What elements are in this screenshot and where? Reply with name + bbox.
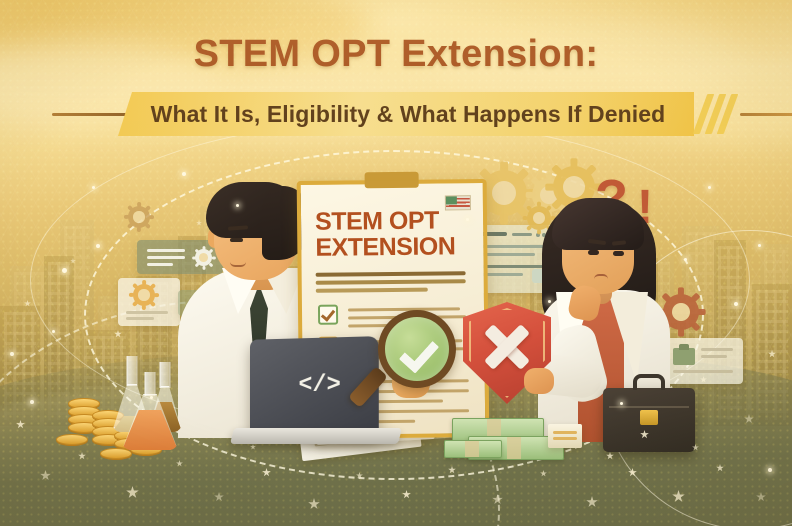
gear-tooth xyxy=(526,192,533,198)
gear-icon xyxy=(481,170,527,216)
gear-tooth xyxy=(208,262,213,267)
checkbox-checked-green xyxy=(318,305,338,325)
gear-icon xyxy=(133,284,155,306)
gear-tooth xyxy=(698,309,706,315)
gear-tooth xyxy=(545,183,554,190)
gear-tooth xyxy=(570,158,577,167)
gear-tooth xyxy=(500,162,508,172)
man-eye xyxy=(230,238,243,242)
sparkle-dot xyxy=(30,400,34,404)
document-heading: STEM OPT EXTENSION xyxy=(315,207,476,261)
gear-tooth xyxy=(137,227,141,232)
gear-icon xyxy=(128,206,150,228)
magnifier-check-icon xyxy=(378,310,456,388)
gear-tooth xyxy=(154,293,159,297)
document-rule xyxy=(316,288,428,293)
sparkle-dot xyxy=(182,172,186,176)
gear-tooth xyxy=(149,215,154,219)
flask-icon xyxy=(122,372,178,450)
briefcase-lock xyxy=(640,410,658,425)
sparkle-dot xyxy=(236,204,239,207)
sparkle-dot xyxy=(708,186,711,189)
sparkle-dot xyxy=(150,396,153,399)
sparkle-dot xyxy=(758,244,761,247)
document-rule xyxy=(316,271,466,277)
check-mark xyxy=(399,332,439,373)
sparkle-dot xyxy=(466,218,469,221)
gear-tooth xyxy=(202,265,205,269)
gear-tooth xyxy=(132,301,138,307)
gear-tooth xyxy=(537,202,541,207)
x-mark-icon xyxy=(480,320,534,374)
title-trail-rule xyxy=(740,113,792,116)
gear-tooth xyxy=(192,256,196,259)
gear-tooth xyxy=(678,287,684,295)
sparkle-dot xyxy=(62,268,67,273)
gear-tooth xyxy=(150,301,156,307)
coin-icon xyxy=(56,434,88,445)
gear-tooth xyxy=(211,256,215,259)
document-rule xyxy=(316,279,466,285)
briefcase-seam xyxy=(609,406,689,408)
document-heading-line1: STEM OPT xyxy=(315,207,475,235)
gear-tooth xyxy=(194,248,199,253)
page-title: STEM OPT Extension: xyxy=(0,33,792,76)
sparkle-dot xyxy=(684,258,687,261)
gear-icon xyxy=(527,206,551,230)
gear-tooth xyxy=(678,329,684,337)
cash-stack-icon xyxy=(444,440,502,458)
banner-illustration: ? ! STEM OPT EXTEN xyxy=(0,0,792,526)
code-symbol-icon: </> xyxy=(298,372,340,399)
woman-hand-holding-shield xyxy=(524,368,554,394)
magnifier-lens xyxy=(378,310,456,388)
gear-tooth xyxy=(500,214,508,224)
widget-card-gear xyxy=(118,278,180,326)
sparkle-dot xyxy=(10,352,14,356)
gear-tooth xyxy=(194,262,199,267)
gear-tooth xyxy=(137,202,141,207)
sparkle-dot xyxy=(548,300,551,303)
gear-tooth xyxy=(202,246,205,250)
gear-tooth xyxy=(537,229,541,234)
document-heading-line2: EXTENSION xyxy=(315,233,475,261)
woman-mouth xyxy=(594,274,608,279)
woman-eye xyxy=(588,250,599,255)
bill-roll xyxy=(548,424,582,448)
sparkle-dot xyxy=(52,330,55,333)
gear-tooth xyxy=(546,172,552,179)
sparkle-dot xyxy=(734,302,738,306)
gear-tooth xyxy=(150,283,156,289)
man-mouth xyxy=(230,262,246,267)
subtitle-banner: What It Is, Eligibility & What Happens I… xyxy=(118,92,694,136)
widget-card-briefcase xyxy=(665,338,743,384)
gear-tooth xyxy=(142,280,146,285)
gear-tooth xyxy=(142,305,146,310)
briefcase-icon xyxy=(603,388,695,452)
gear-tooth xyxy=(124,215,129,219)
sparkle-dot xyxy=(768,468,772,472)
gear-tooth xyxy=(208,248,213,253)
sparkle-dot xyxy=(96,244,100,248)
woman-eye xyxy=(613,251,624,256)
document-clip xyxy=(365,172,419,189)
laptop-base xyxy=(230,428,402,444)
briefcase-handle xyxy=(633,374,665,390)
gear-tooth xyxy=(132,283,138,289)
gear-icon xyxy=(195,249,212,266)
sparkle-dot xyxy=(92,186,95,189)
sparkle-dot xyxy=(620,402,623,405)
gear-tooth xyxy=(523,216,528,220)
subtitle-banner-wrap: What It Is, Eligibility & What Happens I… xyxy=(0,92,792,138)
gear-tooth xyxy=(129,293,134,297)
subtitle-text: What It Is, Eligibility & What Happens I… xyxy=(147,101,666,128)
